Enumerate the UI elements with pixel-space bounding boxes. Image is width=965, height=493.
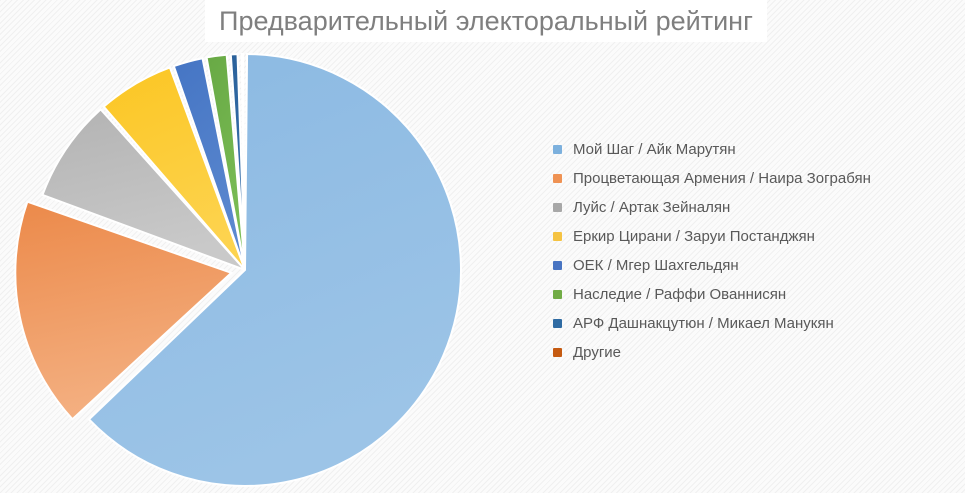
legend-item-3[interactable]: Еркир Цирани / Заруи Постанджян bbox=[553, 222, 953, 251]
legend-item-5[interactable]: Наследие / Раффи Ованнисян bbox=[553, 280, 953, 309]
legend-swatch-icon-4 bbox=[553, 261, 562, 270]
legend-label-1: Процветающая Армения / Наира Зограбян bbox=[573, 170, 871, 188]
legend-label-3: Еркир Цирани / Заруи Постанджян bbox=[573, 228, 815, 246]
chart-legend: Мой Шаг / Айк Марутян Процветающая Армен… bbox=[553, 135, 953, 367]
legend-item-2[interactable]: Луйс / Артак Зейналян bbox=[553, 193, 953, 222]
pie-slices bbox=[15, 54, 461, 486]
pie-chart bbox=[0, 40, 520, 493]
page-title: Предварительный электоральный рейтинг bbox=[219, 6, 753, 36]
legend-swatch-icon-7 bbox=[553, 348, 562, 357]
legend-swatch-icon-3 bbox=[553, 232, 562, 241]
chart-title-box: Предварительный электоральный рейтинг bbox=[205, 0, 767, 42]
pie-chart-svg bbox=[0, 40, 520, 493]
legend-label-6: АРФ Дашнакцутюн / Микаел Манукян bbox=[573, 315, 834, 333]
legend-swatch-icon-2 bbox=[553, 203, 562, 212]
legend-label-2: Луйс / Артак Зейналян bbox=[573, 199, 730, 217]
legend-swatch-icon-0 bbox=[553, 145, 562, 154]
legend-label-7: Другие bbox=[573, 344, 621, 362]
legend-swatch-icon-1 bbox=[553, 174, 562, 183]
slide-canvas: Предварительный электоральный рейтинг bbox=[0, 0, 965, 493]
legend-label-4: ОЕК / Мгер Шахгельдян bbox=[573, 257, 739, 275]
legend-item-0[interactable]: Мой Шаг / Айк Марутян bbox=[553, 135, 953, 164]
legend-item-4[interactable]: ОЕК / Мгер Шахгельдян bbox=[553, 251, 953, 280]
legend-item-7[interactable]: Другие bbox=[553, 338, 953, 367]
legend-swatch-icon-5 bbox=[553, 290, 562, 299]
legend-label-0: Мой Шаг / Айк Марутян bbox=[573, 141, 736, 159]
legend-item-6[interactable]: АРФ Дашнакцутюн / Микаел Манукян bbox=[553, 309, 953, 338]
legend-item-1[interactable]: Процветающая Армения / Наира Зограбян bbox=[553, 164, 953, 193]
legend-label-5: Наследие / Раффи Ованнисян bbox=[573, 286, 786, 304]
legend-swatch-icon-6 bbox=[553, 319, 562, 328]
